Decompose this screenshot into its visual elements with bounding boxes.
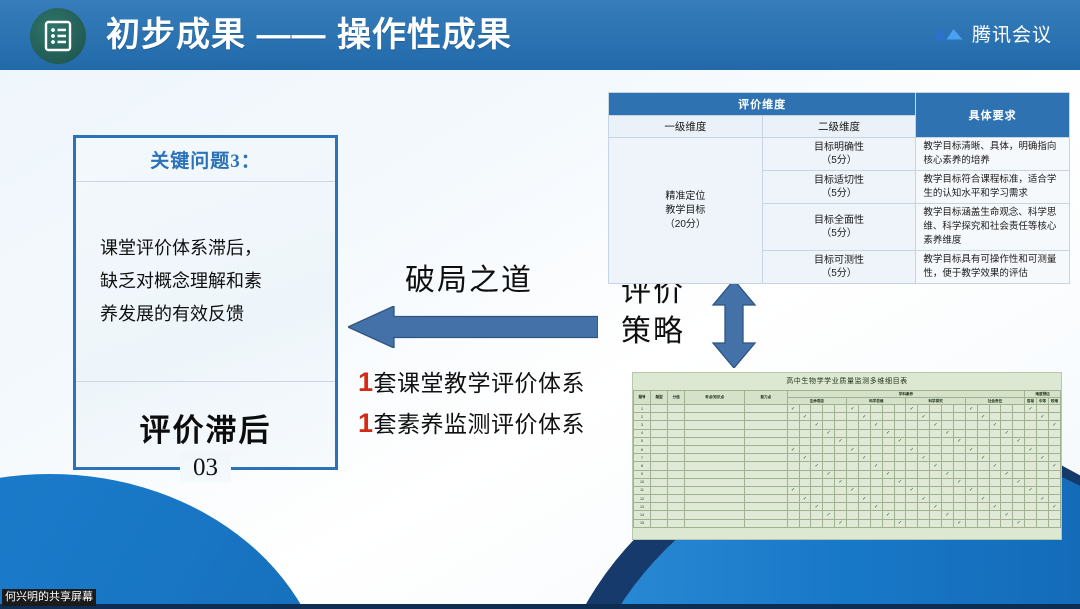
detail-cell	[906, 413, 918, 421]
detail-cell	[745, 437, 788, 445]
detail-cell	[894, 454, 906, 462]
detail-cell	[1013, 462, 1025, 470]
table-row: 3✓✓✓✓✓	[634, 421, 1061, 429]
detail-cell	[858, 405, 870, 413]
detail-cell	[942, 405, 954, 413]
detail-cell	[835, 495, 847, 503]
detail-cell	[930, 445, 942, 453]
page-title: 初步成果 —— 操作性成果	[106, 9, 512, 61]
key-question-body: 课堂评价体系滞后， 缺乏对概念理解和素 养发展的有效反馈	[76, 182, 335, 382]
detail-cell	[847, 462, 859, 470]
detail-cell	[847, 519, 859, 527]
detail-cell	[930, 519, 942, 527]
detail-cell	[835, 405, 847, 413]
detail-cell	[811, 405, 823, 413]
detail-cell	[953, 486, 965, 494]
detail-cell: 11	[634, 486, 651, 494]
detail-cell: ✓	[942, 470, 954, 478]
detail-cell	[745, 519, 788, 527]
deliverable-text: 套课堂教学评价体系	[374, 371, 586, 396]
detail-cell	[882, 454, 894, 462]
detail-cell	[870, 478, 882, 486]
detail-cell	[823, 454, 835, 462]
detail-cell	[894, 470, 906, 478]
detail-cell	[1001, 519, 1013, 527]
detail-cell	[799, 503, 811, 511]
detail-cell	[799, 429, 811, 437]
detail-cell	[918, 478, 930, 486]
rubric-dimension2-cell: 目标全面性 （5分）	[762, 204, 916, 251]
detail-cell	[965, 470, 977, 478]
detail-cell	[870, 511, 882, 519]
detail-cell	[930, 495, 942, 503]
detail-cell	[847, 454, 859, 462]
detail-cell	[1013, 421, 1025, 429]
detail-cell: ✓	[906, 405, 918, 413]
detail-cell: ✓	[1048, 503, 1060, 511]
detail-cell	[745, 478, 788, 486]
detail-column-header: 能力点	[745, 391, 788, 405]
detail-cell	[1048, 470, 1060, 478]
detail-cell	[1025, 478, 1037, 486]
detail-cell	[847, 503, 859, 511]
detail-cell	[787, 462, 799, 470]
detail-cell	[918, 486, 930, 494]
detail-cell	[685, 462, 745, 470]
detail-cell	[745, 503, 788, 511]
detail-cell	[882, 519, 894, 527]
detail-cell: ✓	[965, 445, 977, 453]
detail-cell	[1048, 405, 1060, 413]
detail-cell	[906, 454, 918, 462]
detail-cell	[1001, 454, 1013, 462]
detail-cell	[953, 429, 965, 437]
detail-cell	[942, 495, 954, 503]
detail-subgroup-header: 科学思维	[847, 398, 906, 405]
detail-cell	[977, 405, 989, 413]
detail-cell: ✓	[787, 405, 799, 413]
detail-cell	[906, 429, 918, 437]
detail-cell	[745, 421, 788, 429]
detail-table-head: 题号题型分值考点/知识点能力点学科素养难度预估 生命观念科学思维科学探究社会责任…	[634, 391, 1061, 405]
detail-cell: ✓	[906, 486, 918, 494]
detail-cell	[823, 495, 835, 503]
detail-cell	[835, 429, 847, 437]
detail-cell	[882, 486, 894, 494]
detail-cell	[787, 511, 799, 519]
detail-table: 题号题型分值考点/知识点能力点学科素养难度预估 生命观念科学思维科学探究社会责任…	[633, 390, 1061, 528]
detail-cell	[1025, 413, 1037, 421]
detail-cell	[1048, 413, 1060, 421]
detail-group-header: 难度预估	[1025, 391, 1061, 398]
detail-cell	[977, 437, 989, 445]
detail-cell	[1001, 421, 1013, 429]
detail-cell	[906, 495, 918, 503]
detail-cell	[918, 519, 930, 527]
detail-cell	[685, 486, 745, 494]
key-question-box: 关键问题3： 课堂评价体系滞后， 缺乏对概念理解和素 养发展的有效反馈 评价滞后…	[73, 135, 338, 470]
detail-cell	[1025, 437, 1037, 445]
detail-cell	[1048, 478, 1060, 486]
detail-cell	[685, 495, 745, 503]
detail-cell	[1025, 429, 1037, 437]
detail-cell	[745, 511, 788, 519]
detail-cell	[847, 495, 859, 503]
rubric-subheader-level2: 二级维度	[762, 116, 916, 138]
detail-difficulty-header: 较难	[1048, 398, 1060, 405]
detail-cell	[1001, 445, 1013, 453]
detail-cell: ✓	[870, 503, 882, 511]
detail-cell: ✓	[847, 445, 859, 453]
detail-cell	[942, 478, 954, 486]
detail-cell	[989, 478, 1001, 486]
detail-cell	[942, 413, 954, 421]
detail-cell	[1037, 437, 1049, 445]
detail-cell	[989, 519, 1001, 527]
detail-cell	[918, 511, 930, 519]
detail-cell	[965, 478, 977, 486]
detail-cell	[965, 519, 977, 527]
detail-cell: ✓	[787, 445, 799, 453]
detail-cell	[894, 413, 906, 421]
detail-cell	[1037, 405, 1049, 413]
detail-cell	[787, 429, 799, 437]
detail-cell	[1013, 405, 1025, 413]
detail-cell	[930, 454, 942, 462]
detail-cell: ✓	[1048, 462, 1060, 470]
table-row: 12✓✓✓✓✓	[634, 495, 1061, 503]
detail-cell	[1048, 519, 1060, 527]
brand-name: 腾讯会议	[972, 20, 1052, 47]
detail-cell	[989, 486, 1001, 494]
key-question-line: 养发展的有效反馈	[100, 298, 311, 331]
detail-cell: 9	[634, 470, 651, 478]
detail-cell	[882, 405, 894, 413]
detail-cell	[847, 437, 859, 445]
detail-cell	[977, 519, 989, 527]
detail-cell	[1037, 478, 1049, 486]
detail-cell	[668, 470, 685, 478]
slide-canvas: 初步成果 —— 操作性成果 腾讯会议 关键问题3： 课堂评价体系滞后， 缺乏对概…	[0, 0, 1080, 609]
detail-cell	[965, 503, 977, 511]
detail-cell	[977, 478, 989, 486]
detail-cell	[942, 454, 954, 462]
detail-cell	[668, 511, 685, 519]
detail-cell: ✓	[823, 470, 835, 478]
table-row: 10✓✓✓✓	[634, 478, 1061, 486]
detail-cell	[811, 478, 823, 486]
detail-cell: ✓	[930, 421, 942, 429]
detail-cell	[811, 429, 823, 437]
detail-cell	[668, 519, 685, 527]
detail-cell	[787, 503, 799, 511]
detail-cell	[651, 478, 668, 486]
detail-cell	[977, 462, 989, 470]
detail-cell	[870, 519, 882, 527]
key-question-number-badge: 03	[76, 453, 335, 483]
detail-table-container: 高中生物学学业质量监测多维细目表 题号题型分值考点/知识点能力点学科素养难度预估…	[632, 372, 1062, 540]
detail-cell: ✓	[799, 454, 811, 462]
detail-cell: ✓	[1037, 454, 1049, 462]
detail-cell	[668, 454, 685, 462]
decor-bottom-strip	[0, 604, 1080, 609]
detail-cell	[811, 495, 823, 503]
detail-cell	[977, 511, 989, 519]
detail-cell	[1001, 478, 1013, 486]
rubric-dimension2-line: （5分）	[767, 154, 912, 167]
rubric-dimension2-line: 目标适切性	[767, 174, 912, 187]
detail-cell	[906, 421, 918, 429]
detail-cell	[745, 454, 788, 462]
detail-cell: ✓	[977, 495, 989, 503]
table-row: 1✓✓✓✓✓	[634, 405, 1061, 413]
detail-cell	[942, 486, 954, 494]
detail-cell	[1048, 511, 1060, 519]
detail-cell	[1013, 495, 1025, 503]
detail-cell: 6	[634, 445, 651, 453]
detail-cell: ✓	[1001, 470, 1013, 478]
detail-cell	[1048, 495, 1060, 503]
detail-cell	[870, 405, 882, 413]
detail-cell: ✓	[1037, 495, 1049, 503]
rubric-dimension2-line: 目标明确性	[767, 141, 912, 154]
detail-cell	[870, 445, 882, 453]
detail-cell	[882, 421, 894, 429]
strategy-label: 评价 策略	[613, 272, 693, 352]
detail-cell	[1037, 511, 1049, 519]
detail-cell	[858, 470, 870, 478]
detail-cell	[651, 454, 668, 462]
detail-cell	[953, 511, 965, 519]
detail-subgroup-header: 科学探究	[906, 398, 965, 405]
screen-share-watermark: 何兴明的共享屏幕	[2, 589, 96, 606]
detail-cell	[651, 519, 668, 527]
detail-cell	[989, 429, 1001, 437]
detail-cell	[651, 405, 668, 413]
detail-cell: ✓	[942, 429, 954, 437]
table-row: 15✓✓✓✓	[634, 519, 1061, 527]
detail-cell	[870, 470, 882, 478]
table-row: 评价维度 具体要求	[609, 93, 1070, 116]
deliverable-item: 1套素养监测评价体系	[358, 405, 585, 439]
detail-cell	[823, 405, 835, 413]
detail-cell: ✓	[835, 437, 847, 445]
detail-group-header: 学科素养	[787, 391, 1025, 398]
detail-cell	[1025, 503, 1037, 511]
detail-cell	[745, 470, 788, 478]
detail-cell	[965, 437, 977, 445]
detail-cell	[668, 413, 685, 421]
detail-cell	[930, 478, 942, 486]
detail-cell	[882, 495, 894, 503]
rubric-dimension2-line: （5分）	[767, 187, 912, 200]
detail-cell: ✓	[965, 405, 977, 413]
detail-cell	[1013, 511, 1025, 519]
detail-cell	[685, 421, 745, 429]
detail-cell	[858, 519, 870, 527]
detail-cell	[1025, 495, 1037, 503]
detail-cell	[651, 495, 668, 503]
breakthrough-label: 破局之道	[405, 255, 533, 299]
detail-cell: ✓	[858, 495, 870, 503]
detail-cell: ✓	[835, 478, 847, 486]
detail-cell	[811, 470, 823, 478]
detail-cell	[1001, 437, 1013, 445]
detail-cell: ✓	[811, 421, 823, 429]
detail-cell	[787, 478, 799, 486]
detail-cell	[858, 437, 870, 445]
detail-cell	[1037, 503, 1049, 511]
detail-cell: 3	[634, 421, 651, 429]
detail-cell	[847, 421, 859, 429]
detail-cell	[799, 519, 811, 527]
detail-cell	[906, 478, 918, 486]
detail-cell	[847, 429, 859, 437]
detail-cell	[894, 462, 906, 470]
detail-cell	[1013, 454, 1025, 462]
detail-cell	[977, 445, 989, 453]
detail-cell	[847, 478, 859, 486]
rubric-requirement-cell: 教学目标涵盖生命观念、科学思维、科学探究和社会责任等核心素养维度	[916, 204, 1070, 251]
detail-cell	[906, 503, 918, 511]
detail-cell	[745, 486, 788, 494]
deliverable-text: 套素养监测评价体系	[374, 412, 586, 437]
detail-cell	[942, 437, 954, 445]
detail-cell	[882, 478, 894, 486]
detail-cell	[906, 462, 918, 470]
detail-cell	[823, 445, 835, 453]
detail-cell	[858, 511, 870, 519]
detail-cell: 10	[634, 478, 651, 486]
detail-cell	[651, 445, 668, 453]
deliverable-item: 1套课堂教学评价体系	[358, 364, 585, 398]
rubric-dimension1-cell: 精准定位 教学目标 （20分）	[609, 138, 763, 284]
detail-cell	[918, 437, 930, 445]
table-row: 8✓✓✓✓✓	[634, 462, 1061, 470]
detail-cell: ✓	[965, 486, 977, 494]
detail-cell	[1037, 486, 1049, 494]
detail-cell	[745, 413, 788, 421]
detail-cell	[953, 413, 965, 421]
detail-cell: ✓	[953, 437, 965, 445]
detail-cell	[745, 495, 788, 503]
detail-cell: ✓	[989, 462, 1001, 470]
table-row: 7✓✓✓✓✓	[634, 454, 1061, 462]
detail-cell	[989, 495, 1001, 503]
detail-cell	[918, 405, 930, 413]
detail-cell	[811, 437, 823, 445]
detail-cell: ✓	[989, 421, 1001, 429]
detail-cell	[668, 405, 685, 413]
detail-cell: 2	[634, 413, 651, 421]
rubric-requirement-cell: 教学目标符合课程标准，适合学生的认知水平和学习需求	[916, 171, 1070, 204]
detail-cell	[870, 495, 882, 503]
detail-cell	[668, 462, 685, 470]
detail-cell: ✓	[894, 478, 906, 486]
table-row: 13✓✓✓✓✓	[634, 503, 1061, 511]
detail-cell	[1048, 437, 1060, 445]
tencent-meeting-logo-icon	[933, 24, 963, 44]
rubric-requirement-cell: 教学目标清晰、具体，明确指向核心素养的培养	[916, 138, 1070, 171]
detail-cell	[942, 445, 954, 453]
detail-cell	[977, 429, 989, 437]
detail-cell	[835, 462, 847, 470]
detail-cell	[787, 454, 799, 462]
detail-cell: ✓	[942, 511, 954, 519]
detail-cell: ✓	[799, 495, 811, 503]
detail-cell	[668, 437, 685, 445]
left-arrow-icon	[348, 306, 598, 348]
detail-cell	[989, 445, 1001, 453]
detail-cell: ✓	[906, 445, 918, 453]
detail-cell	[977, 421, 989, 429]
detail-cell	[685, 437, 745, 445]
detail-cell	[1013, 445, 1025, 453]
detail-cell	[894, 421, 906, 429]
detail-cell	[799, 478, 811, 486]
detail-cell	[930, 470, 942, 478]
detail-cell	[651, 429, 668, 437]
detail-cell	[651, 413, 668, 421]
detail-cell	[668, 495, 685, 503]
detail-cell	[811, 511, 823, 519]
detail-cell: ✓	[918, 413, 930, 421]
detail-cell	[858, 421, 870, 429]
detail-cell	[930, 413, 942, 421]
detail-cell	[685, 405, 745, 413]
detail-cell: 5	[634, 437, 651, 445]
detail-cell: ✓	[1025, 486, 1037, 494]
detail-cell	[1001, 405, 1013, 413]
table-row: 14✓✓✓✓	[634, 511, 1061, 519]
detail-cell	[1048, 445, 1060, 453]
rubric-table: 评价维度 具体要求 一级维度 二级维度 精准定位 教学目标 （20分） 目标明确…	[608, 92, 1070, 284]
detail-cell	[1048, 454, 1060, 462]
detail-cell	[977, 486, 989, 494]
detail-cell	[1025, 470, 1037, 478]
detail-cell	[1013, 470, 1025, 478]
detail-cell	[953, 503, 965, 511]
detail-cell	[870, 413, 882, 421]
detail-difficulty-header: 中等	[1037, 398, 1049, 405]
detail-cell	[989, 437, 1001, 445]
detail-cell: ✓	[1013, 478, 1025, 486]
table-row: 题号题型分值考点/知识点能力点学科素养难度预估	[634, 391, 1061, 398]
detail-cell	[858, 445, 870, 453]
detail-cell	[823, 421, 835, 429]
detail-table-body: 1✓✓✓✓✓2✓✓✓✓✓3✓✓✓✓✓4✓✓✓✓5✓✓✓✓6✓✓✓✓✓7✓✓✓✓✓…	[634, 405, 1061, 528]
detail-cell	[930, 511, 942, 519]
rubric-requirement-cell: 教学目标具有可操作性和可测量性，便于教学效果的评估	[916, 251, 1070, 284]
detail-cell	[1037, 429, 1049, 437]
detail-cell	[1025, 462, 1037, 470]
detail-cell	[1025, 454, 1037, 462]
up-down-arrow-icon	[710, 280, 758, 368]
detail-cell	[651, 421, 668, 429]
detail-cell	[882, 462, 894, 470]
detail-cell	[1001, 413, 1013, 421]
detail-cell	[847, 470, 859, 478]
detail-cell	[942, 503, 954, 511]
table-row: 2✓✓✓✓✓	[634, 413, 1061, 421]
detail-cell	[918, 503, 930, 511]
detail-cell: ✓	[787, 486, 799, 494]
detail-cell	[651, 486, 668, 494]
detail-cell	[942, 462, 954, 470]
detail-cell: 14	[634, 511, 651, 519]
detail-cell: ✓	[977, 413, 989, 421]
rubric-dimension2-cell: 目标适切性 （5分）	[762, 171, 916, 204]
